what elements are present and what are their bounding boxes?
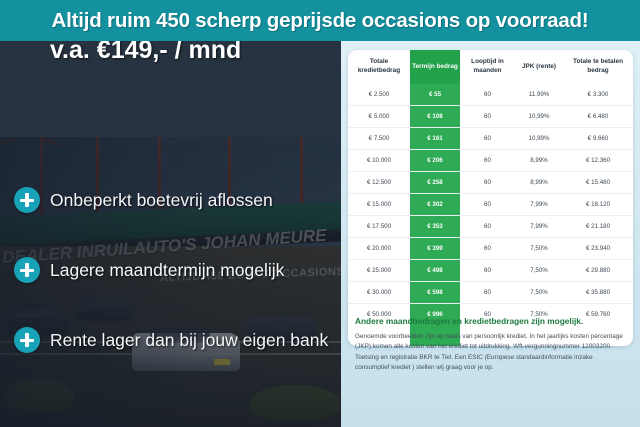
- cell-jkp: 8,99%: [515, 172, 563, 194]
- cell-jkp: 7,99%: [515, 194, 563, 216]
- cell-totaal: € 18.120: [563, 194, 633, 216]
- cell-looptijd: 60: [460, 216, 515, 238]
- column-header-totaal: Totale te betalen bedrag: [563, 50, 633, 84]
- cell-krediet: € 7.500: [348, 128, 410, 150]
- table-row: € 12.500 € 258 60 8,99% € 15.480: [348, 172, 633, 194]
- cell-krediet: € 2.500: [348, 84, 410, 106]
- cell-totaal: € 3.300: [563, 84, 633, 106]
- cell-termijn: € 206: [410, 150, 460, 172]
- column-header-termijn: Termijn bedrag: [410, 50, 460, 84]
- list-item: Rente lager dan bij jouw eigen bank: [14, 323, 350, 357]
- benefit-label: Onbeperkt boetevrij aflossen: [50, 190, 273, 211]
- top-headline-text: Altijd ruim 450 scherp geprijsde occasio…: [52, 9, 589, 33]
- table-row: € 2.500 € 55 60 11,99% € 3.300: [348, 84, 633, 106]
- list-item: Onbeperkt boetevrij aflossen: [14, 183, 350, 217]
- cell-termijn: € 161: [410, 128, 460, 150]
- cell-totaal: € 23.940: [563, 238, 633, 260]
- cell-jkp: 8,99%: [515, 150, 563, 172]
- table-row: € 17.500 € 353 60 7,99% € 21.180: [348, 216, 633, 238]
- cell-krediet: € 12.500: [348, 172, 410, 194]
- table-header-row: Totale kredietbedrag Termijn bedrag Loop…: [348, 50, 633, 84]
- top-headline-bar: Altijd ruim 450 scherp geprijsde occasio…: [0, 0, 640, 41]
- cell-totaal: € 29.880: [563, 260, 633, 282]
- rates-card: Totale kredietbedrag Termijn bedrag Loop…: [348, 50, 633, 346]
- table-row: € 25.000 € 498 60 7,50% € 29.880: [348, 260, 633, 282]
- cell-totaal: € 21.180: [563, 216, 633, 238]
- table-row: € 20.000 € 399 60 7,50% € 23.940: [348, 238, 633, 260]
- cell-looptijd: 60: [460, 194, 515, 216]
- cell-krediet: € 10.000: [348, 150, 410, 172]
- cell-jkp: 7,50%: [515, 260, 563, 282]
- cell-looptijd: 60: [460, 106, 515, 128]
- cell-krediet: € 17.500: [348, 216, 410, 238]
- cell-looptijd: 60: [460, 150, 515, 172]
- cell-jkp: 7,50%: [515, 282, 563, 304]
- cell-krediet: € 5.000: [348, 106, 410, 128]
- cell-totaal: € 35.880: [563, 282, 633, 304]
- cell-jkp: 10,99%: [515, 128, 563, 150]
- cell-totaal: € 6.480: [563, 106, 633, 128]
- cell-termijn: € 399: [410, 238, 460, 260]
- column-header-looptijd: Looptijd in maanden: [460, 50, 515, 84]
- plus-circle-icon: [14, 257, 40, 283]
- column-header-jkp: JPK (rente): [515, 50, 563, 84]
- benefits-list: Onbeperkt boetevrij aflossen Lagere maan…: [14, 183, 350, 393]
- cell-jkp: 7,99%: [515, 216, 563, 238]
- benefit-label: Lagere maandtermijn mogelijk: [50, 260, 284, 281]
- cell-jkp: 11,99%: [515, 84, 563, 106]
- cell-termijn: € 353: [410, 216, 460, 238]
- cell-krediet: € 25.000: [348, 260, 410, 282]
- cell-looptijd: 60: [460, 128, 515, 150]
- cell-krediet: € 30.000: [348, 282, 410, 304]
- cell-termijn: € 108: [410, 106, 460, 128]
- table-row: € 30.000 € 598 60 7,50% € 35.880: [348, 282, 633, 304]
- cell-termijn: € 302: [410, 194, 460, 216]
- benefit-label: Rente lager dan bij jouw eigen bank: [50, 330, 328, 351]
- table-row: € 10.000 € 206 60 8,99% € 12.360: [348, 150, 633, 172]
- cell-looptijd: 60: [460, 260, 515, 282]
- cell-totaal: € 9.660: [563, 128, 633, 150]
- disclaimer-title: Andere maandbedragen en kredietbedragen …: [355, 317, 627, 327]
- table-row: € 5.000 € 108 60 10,99% € 6.480: [348, 106, 633, 128]
- cell-looptijd: 60: [460, 282, 515, 304]
- cell-jkp: 7,50%: [515, 238, 563, 260]
- cell-krediet: € 20.000: [348, 238, 410, 260]
- cell-looptijd: 60: [460, 238, 515, 260]
- list-item: Lagere maandtermijn mogelijk: [14, 253, 350, 287]
- disclaimer-block: Andere maandbedragen en kredietbedragen …: [355, 317, 627, 373]
- cell-termijn: € 598: [410, 282, 460, 304]
- disclaimer-body: Genoemde voorbeelden zijn op basis van p…: [355, 332, 627, 374]
- cell-jkp: 10,99%: [515, 106, 563, 128]
- financing-promo-banner: DEALER INRUILAUTO'S JOHAN MEURE ALTIJD 4…: [0, 0, 640, 427]
- cell-krediet: € 15.000: [348, 194, 410, 216]
- table-row: € 15.000 € 302 60 7,99% € 18.120: [348, 194, 633, 216]
- cell-totaal: € 15.480: [563, 172, 633, 194]
- cell-looptijd: 60: [460, 84, 515, 106]
- rates-panel: Totale kredietbedrag Termijn bedrag Loop…: [341, 41, 640, 427]
- cell-totaal: € 12.360: [563, 150, 633, 172]
- plus-circle-icon: [14, 327, 40, 353]
- cell-looptijd: 60: [460, 172, 515, 194]
- cell-termijn: € 55: [410, 84, 460, 106]
- column-header-krediet: Totale kredietbedrag: [348, 50, 410, 84]
- rates-table: Totale kredietbedrag Termijn bedrag Loop…: [348, 50, 633, 346]
- cell-termijn: € 498: [410, 260, 460, 282]
- table-row: € 7.500 € 161 60 10,99% € 9.660: [348, 128, 633, 150]
- cell-termijn: € 258: [410, 172, 460, 194]
- plus-circle-icon: [14, 187, 40, 213]
